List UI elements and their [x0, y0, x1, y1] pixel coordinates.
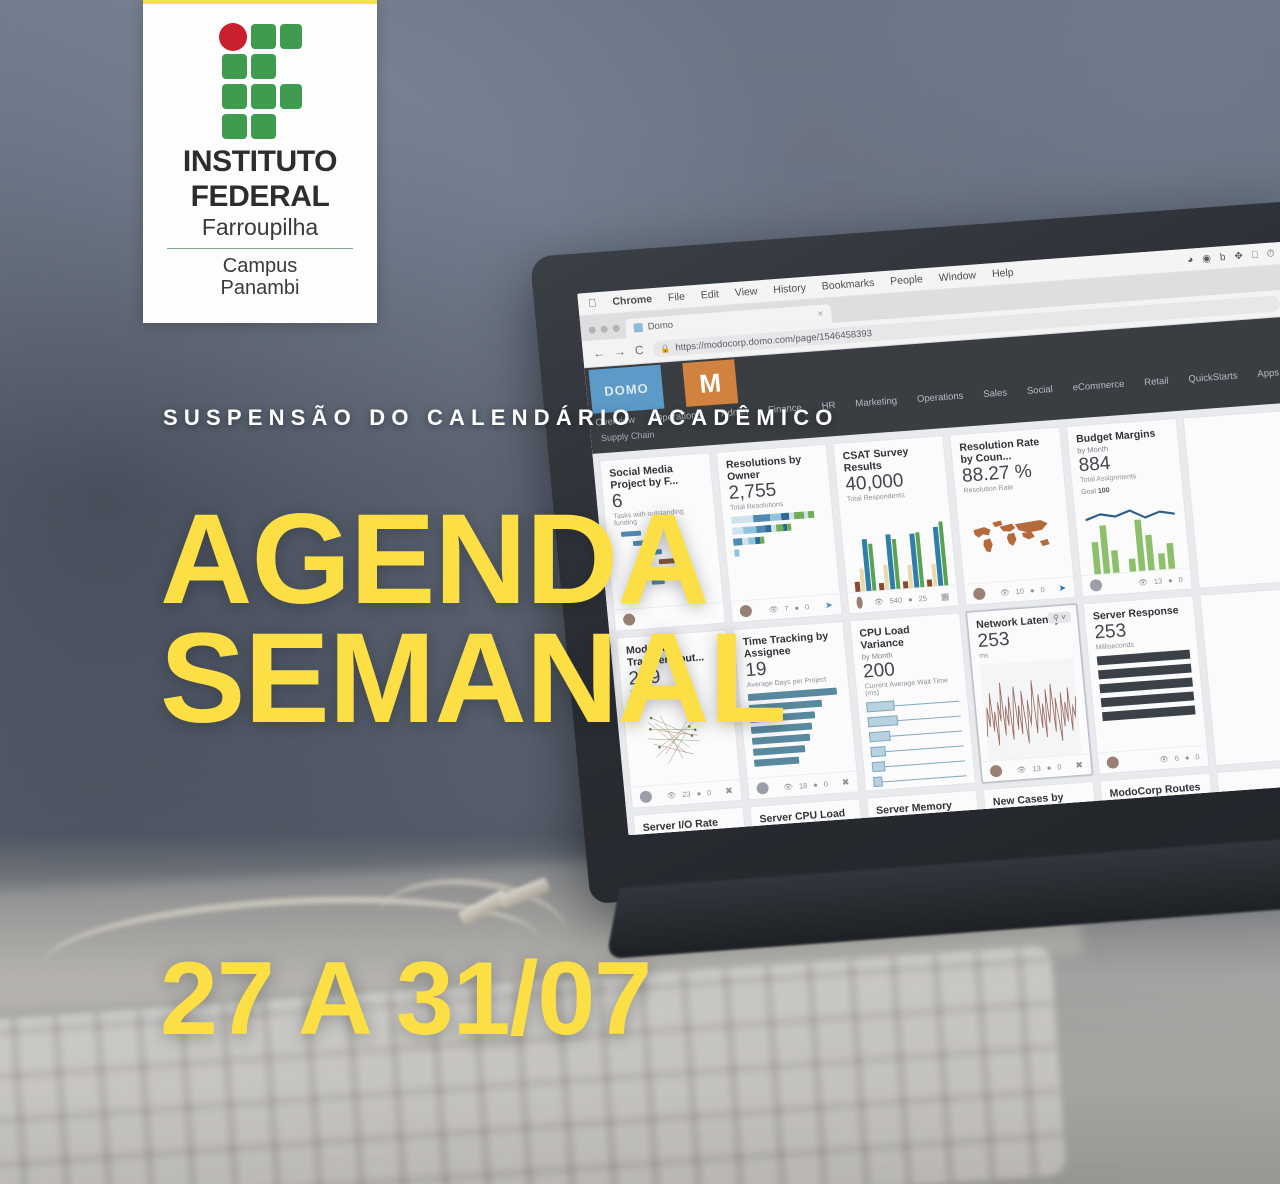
avatar	[990, 765, 1003, 778]
view-count: 6	[921, 791, 926, 792]
card-network-latency[interactable]: ⚲ ˅ Network Latency 253 ms 👁 13 ●	[966, 604, 1093, 783]
camera-icon[interactable]: ◉	[1202, 253, 1212, 265]
apple-icon[interactable]: 	[588, 297, 597, 310]
comment-count: 0	[707, 788, 712, 797]
close-window-button[interactable]	[588, 326, 596, 333]
if-logo-mark	[217, 22, 303, 142]
menu-item-window[interactable]: Window	[938, 269, 976, 284]
institution-logo-card: INSTITUTO FEDERAL Farroupilha Campus Pan…	[143, 0, 377, 323]
kicker-text: SUSPENSÃO DO CALENDÁRIO ACADÊMICO	[163, 405, 839, 431]
poster-canvas:  Chrome File Edit View History Bookmark…	[0, 0, 1280, 1184]
nav-item-apps[interactable]: Apps	[1257, 367, 1280, 380]
dark-bar-chart	[1097, 650, 1199, 752]
menu-item-bookmarks[interactable]: Bookmarks	[821, 277, 875, 293]
placeholder-viz	[1194, 435, 1280, 587]
nav-item-quickstarts[interactable]: QuickStarts	[1188, 370, 1238, 385]
headline-line-2: SEMANAL	[160, 619, 786, 738]
tab-title: Domo	[647, 320, 673, 333]
eye-icon: 👁	[783, 782, 793, 792]
menu-item-people[interactable]: People	[890, 273, 924, 287]
send-icon[interactable]: ➤	[825, 599, 834, 611]
wifi-icon[interactable]: ◕	[1187, 254, 1194, 265]
logo-institute-line-1: INSTITUTO	[183, 148, 337, 177]
avatar	[856, 597, 863, 609]
card-tool-menu[interactable]: ⚲ ˅	[1048, 611, 1072, 624]
comment-icon: ●	[908, 594, 913, 603]
avatar	[639, 790, 652, 803]
placeholder-viz	[1211, 612, 1280, 764]
card-cpu-load-variance[interactable]: CPU Load Variance by Month 200 Current A…	[849, 612, 976, 791]
logo-unit-name: Farroupilha	[202, 214, 318, 241]
logo-divider	[167, 248, 353, 250]
menu-item-chrome[interactable]: Chrome	[612, 293, 653, 308]
view-count: 10	[1015, 586, 1024, 596]
domo-favicon	[633, 323, 643, 333]
comment-icon: ●	[931, 790, 936, 792]
bluetooth-icon[interactable]: ✥	[1234, 250, 1243, 262]
eye-icon: 👁	[1016, 764, 1026, 774]
card-goal: Goal 100	[1081, 482, 1174, 496]
goal-value: 100	[1098, 487, 1110, 495]
comment-icon: ●	[1046, 763, 1051, 772]
comment-count: 25	[918, 593, 927, 603]
headline: AGENDA SEMANAL	[160, 500, 786, 738]
card-overflow-right[interactable]	[1183, 409, 1280, 588]
clock-icon[interactable]: ⏱	[1266, 248, 1275, 260]
comment-icon: ●	[813, 780, 818, 789]
comment-icon: ●	[1184, 752, 1189, 761]
card-title	[1192, 418, 1280, 437]
lock-icon: 🔒	[660, 343, 671, 353]
menu-item-history[interactable]: History	[773, 282, 807, 296]
box-plot-chart	[866, 696, 967, 792]
eye-icon: 👁	[1138, 577, 1148, 587]
nav-item-social[interactable]: Social	[1026, 384, 1053, 397]
card-budget-margins[interactable]: Budget Margins by Month 884 Total Assign…	[1066, 418, 1193, 597]
comment-count: 0	[1040, 585, 1045, 594]
eye-icon: 👁	[1000, 587, 1010, 597]
card-server-response[interactable]: Server Response 253 Milliseconds 👁 6 ● 0	[1083, 595, 1210, 774]
card-resolution-rate-by-country[interactable]: Resolution Rate by Coun... 88.27 % Resol…	[949, 427, 1076, 606]
eye-icon: 👁	[666, 790, 676, 800]
nav-item-sales[interactable]: Sales	[983, 387, 1008, 400]
view-count: 540	[889, 595, 902, 605]
card-overflow-right-2[interactable]	[1199, 587, 1280, 766]
airplay-icon[interactable]: ⎕	[1251, 249, 1258, 260]
comment-count: 0	[1195, 752, 1200, 761]
eye-icon: 👁	[874, 596, 884, 606]
nav-item-operations-2[interactable]: Operations	[916, 391, 963, 405]
world-map-chart	[964, 493, 1065, 583]
wrench-icon[interactable]: ✖	[841, 776, 850, 788]
headline-line-1: AGENDA	[160, 500, 786, 619]
comment-count: 0	[1057, 762, 1062, 771]
avatar	[756, 782, 769, 795]
minimize-window-button[interactable]	[600, 325, 608, 332]
comment-count: 0	[805, 602, 810, 611]
sparkline-chart	[980, 658, 1082, 760]
back-button[interactable]: ←	[592, 346, 605, 361]
comment-count: 0	[823, 779, 828, 788]
workspace-logo[interactable]: M	[682, 359, 738, 407]
eye-icon: 👁	[1159, 754, 1169, 764]
reload-button[interactable]: C	[634, 343, 644, 358]
comment-icon: ●	[1168, 575, 1173, 584]
menu-item-file[interactable]: File	[667, 291, 685, 304]
nav-item-retail[interactable]: Retail	[1144, 376, 1169, 389]
grouped-bar-chart	[848, 502, 949, 592]
table-icon[interactable]: ▦	[940, 591, 950, 603]
send-icon[interactable]: ➤	[1058, 582, 1067, 594]
logo-campus-line-1: Campus	[223, 255, 297, 277]
view-count: 13	[1153, 576, 1162, 586]
battery-icon[interactable]: b	[1219, 252, 1226, 263]
avatar	[973, 587, 986, 600]
menubar-status-icons[interactable]: ◕ ◉ b ✥ ⎕ ⏱	[1187, 248, 1275, 265]
avatar	[1106, 756, 1119, 769]
logo-institute-line-2: FEDERAL	[191, 183, 330, 212]
wrench-icon[interactable]: ✖	[725, 785, 734, 797]
view-count: 13	[1032, 763, 1041, 773]
comment-count: 0	[1178, 574, 1183, 583]
comment-icon: ●	[696, 788, 701, 797]
wrench-icon[interactable]: ✖	[1075, 759, 1084, 771]
avatar	[1089, 579, 1102, 592]
view-count: 23	[682, 789, 691, 799]
comment-icon: ●	[1030, 585, 1035, 594]
view-count: 18	[799, 780, 808, 790]
menu-item-help[interactable]: Help	[991, 267, 1014, 281]
goal-label: Goal	[1081, 488, 1096, 496]
menu-item-view[interactable]: View	[734, 285, 758, 299]
close-tab-icon[interactable]: ×	[817, 309, 824, 320]
comment-icon: ●	[794, 603, 799, 612]
nav-item-marketing[interactable]: Marketing	[855, 395, 898, 409]
menu-item-edit[interactable]: Edit	[700, 288, 719, 301]
window-controls[interactable]	[588, 325, 620, 341]
card-csat-survey-results[interactable]: CSAT Survey Results 40,000 Total Respond…	[832, 435, 959, 614]
zoom-window-button[interactable]	[612, 325, 620, 332]
combo-chart	[1082, 494, 1182, 574]
card-title	[1209, 595, 1280, 614]
view-count: 6	[1174, 753, 1179, 762]
nav-item-ecommerce[interactable]: eCommerce	[1072, 379, 1125, 394]
date-range: 27 A 31/07	[160, 940, 651, 1059]
forward-button[interactable]: →	[613, 344, 626, 359]
logo-campus-line-2: Panambi	[221, 277, 300, 299]
